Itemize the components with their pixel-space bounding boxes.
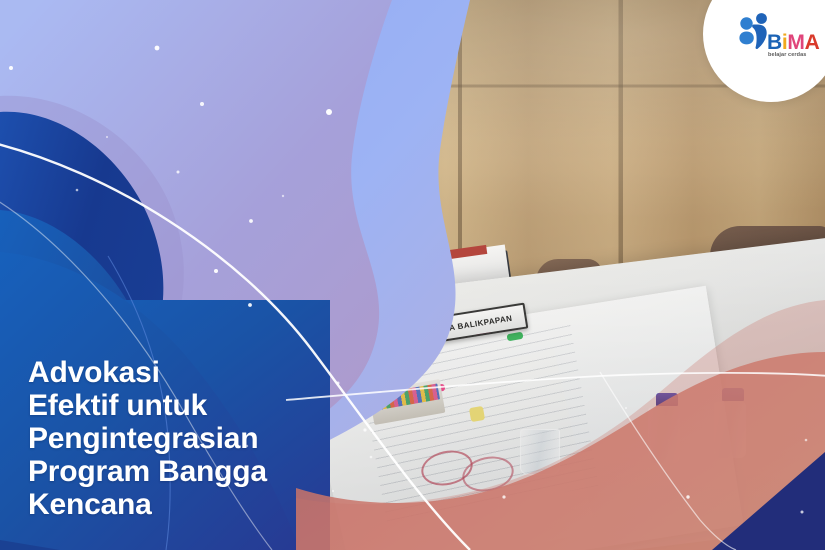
bima-letter-b: B — [767, 31, 782, 54]
star-dot — [214, 269, 218, 273]
star-dot — [363, 428, 366, 431]
page-title: Advokasi Efektif untuk Pengintegrasian P… — [28, 356, 358, 521]
star-dot — [76, 189, 79, 192]
bima-logo: BiMA belajar cerdas — [737, 12, 825, 68]
title-line-3: Pengintegrasian — [28, 422, 258, 455]
star-dot — [370, 456, 373, 459]
bima-letter-m: M — [787, 31, 804, 54]
star-dot — [805, 439, 808, 442]
star-dot — [9, 66, 13, 70]
star-dot — [248, 303, 252, 307]
bima-letter-a: A — [805, 31, 820, 54]
banner: KOTA BALIKPAPAN — [0, 0, 825, 550]
title-line-4: Program Bangga — [28, 455, 267, 488]
bima-wordmark: BiMA — [767, 32, 820, 53]
star-dot — [625, 407, 627, 409]
star-dot — [326, 109, 332, 115]
star-dot — [686, 495, 689, 498]
star-dot — [200, 102, 204, 106]
star-dot — [249, 219, 253, 223]
bima-tagline: belajar cerdas — [768, 52, 806, 58]
star-dot — [502, 495, 505, 498]
title-line-2: Efektif untuk — [28, 389, 207, 422]
star-dot — [106, 136, 108, 138]
star-dot — [801, 511, 804, 514]
star-dot — [282, 195, 284, 197]
banner-title-block: Advokasi Efektif untuk Pengintegrasian P… — [28, 356, 358, 521]
title-line-5: Kencana — [28, 488, 152, 521]
star-dot — [155, 46, 160, 51]
title-line-1: Advokasi — [28, 356, 160, 389]
star-dot — [177, 171, 180, 174]
